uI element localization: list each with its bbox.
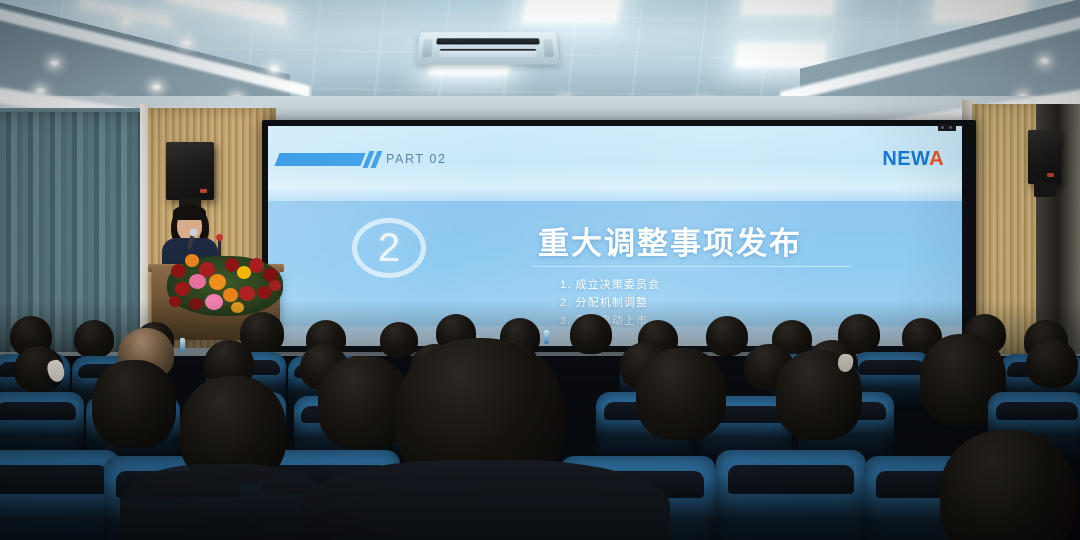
- slide-title: 重大调整事项发布: [538, 218, 802, 263]
- flower-red: [239, 286, 255, 301]
- downlight: [270, 66, 279, 72]
- ceiling-ac-unit: [416, 32, 560, 64]
- presenter-hair-top: [173, 205, 206, 220]
- ac-side-vent: [543, 39, 554, 57]
- newa-logo-prefix: NEW: [882, 148, 929, 170]
- ac-vent-lower: [439, 49, 536, 57]
- slide-part-label: PART 02: [386, 152, 447, 166]
- flower-pink: [189, 274, 206, 289]
- speaker-bracket: [1034, 182, 1056, 197]
- slide-midband: [268, 188, 962, 201]
- audience-head: [706, 316, 748, 356]
- flower-orange: [209, 274, 226, 290]
- screen-sensor-module: [938, 124, 956, 131]
- newa-logo-accent-letter: A: [929, 148, 944, 170]
- slide-accent-bar: [274, 153, 365, 166]
- slide-section-number: 2: [352, 218, 426, 278]
- ac-vent-upper: [436, 38, 539, 44]
- audience-area: [0, 300, 1080, 540]
- speaker-led: [1047, 173, 1054, 177]
- slide-list-item: 1. 成立决策委员会: [560, 276, 660, 294]
- downlight: [50, 60, 59, 66]
- audience-shoulders: [120, 464, 330, 540]
- ac-side-vent: [422, 39, 433, 57]
- auditorium-seat-foreground[interactable]: [716, 450, 866, 540]
- audience-head: [570, 314, 612, 354]
- ceiling-panel-light: [740, 0, 836, 16]
- audience-head: [380, 322, 418, 358]
- flower-red: [249, 258, 264, 273]
- wall-speaker-left: [166, 142, 214, 200]
- audience-head: [1026, 340, 1078, 388]
- auditorium-seat-foreground[interactable]: [0, 450, 120, 540]
- water-bottle: [544, 330, 549, 344]
- downlight: [182, 40, 191, 46]
- slide-double-slash-icon: [366, 151, 379, 168]
- flower-red: [269, 280, 281, 291]
- speaker-led: [200, 189, 207, 193]
- audience-head: [636, 348, 726, 440]
- ceiling-panel-light: [735, 42, 827, 68]
- ceiling-panel-light: [521, 0, 623, 24]
- flower-red: [175, 282, 190, 296]
- newa-logo: NEWA: [882, 148, 944, 171]
- audience-head: [92, 360, 176, 448]
- audience-shoulders-foreground: [300, 460, 670, 540]
- downlight: [122, 18, 131, 24]
- flower-red: [171, 264, 186, 278]
- water-bottle: [180, 338, 185, 352]
- audience-head: [940, 430, 1076, 540]
- flower-orange: [185, 254, 199, 267]
- wall-speaker-right: [1028, 130, 1061, 184]
- auditorium-scene: PART 02 NEWA 2 重大调整事项发布 1. 成立决策委员会 2. 分配…: [0, 0, 1080, 540]
- downlight: [1040, 58, 1049, 64]
- slide-divider: [531, 266, 851, 267]
- downlight: [152, 84, 161, 90]
- audience-head: [74, 320, 114, 358]
